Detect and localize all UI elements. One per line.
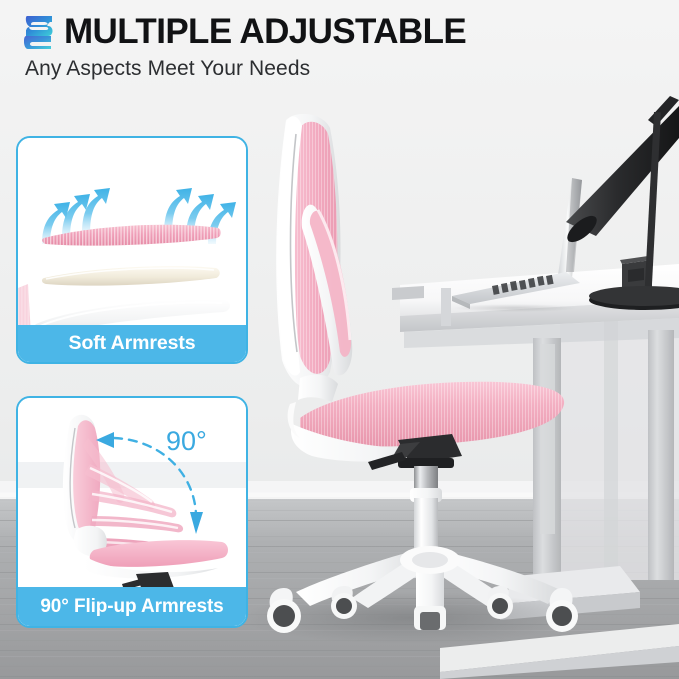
callout-label-soft-armrests: Soft Armrests [18, 325, 246, 362]
angle-label: 90° [166, 426, 207, 456]
page-subtitle: Any Aspects Meet Your Needs [25, 57, 310, 81]
page-title: MULTIPLE ADJUSTABLE [64, 12, 466, 52]
callout-soft-armrests: Soft Armrests [16, 136, 248, 364]
header: MULTIPLE ADJUSTABLE Any Aspects Meet You… [0, 0, 679, 96]
stylized-s-logo-icon [24, 14, 54, 50]
desk-leg-right [648, 330, 674, 580]
infographic-stage: MULTIPLE ADJUSTABLE Any Aspects Meet You… [0, 0, 679, 679]
callout-flip-up-armrests: 90° 90° Flip-up Armrests [16, 396, 248, 628]
callout-label-flip-up-armrests: 90° Flip-up Armrests [18, 587, 246, 626]
caster [414, 606, 446, 630]
desk-leg-left [533, 338, 561, 578]
